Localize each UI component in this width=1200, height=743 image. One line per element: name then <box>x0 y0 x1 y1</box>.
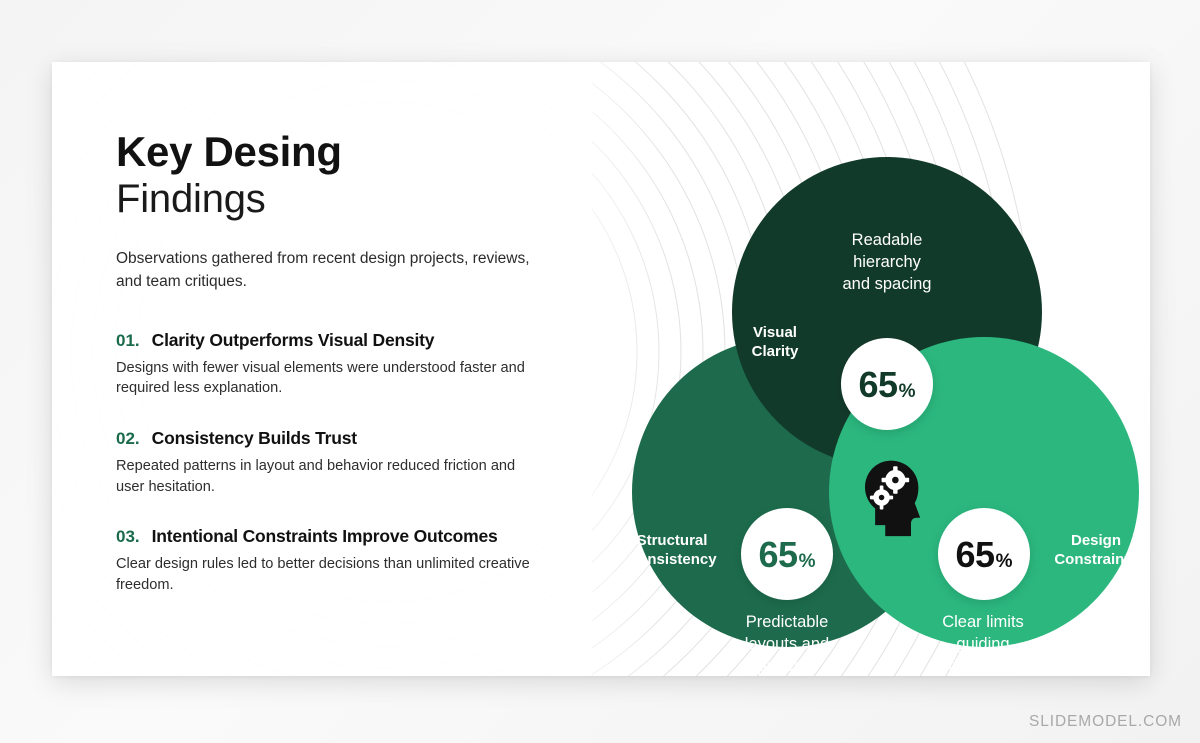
findings-list: 01. Clarity Outperforms Visual Density D… <box>116 330 586 596</box>
slide-page: Key Desing Findings Observations gathere… <box>0 0 1200 743</box>
content-column: Key Desing Findings Observations gathere… <box>116 130 586 596</box>
finding-number: 01. <box>116 331 140 351</box>
finding-title: Intentional Constraints Improve Outcomes <box>152 526 498 547</box>
finding-title: Consistency Builds Trust <box>152 428 357 449</box>
list-item: 03. Intentional Constraints Improve Outc… <box>116 526 586 595</box>
page-title: Key Desing Findings <box>116 130 586 222</box>
title-line-primary: Key Desing <box>116 130 586 175</box>
venn-badge-visual-clarity <box>841 338 933 430</box>
list-item: 01. Clarity Outperforms Visual Density D… <box>116 330 586 399</box>
subtitle-text: Observations gathered from recent design… <box>116 247 546 294</box>
finding-heading: 01. Clarity Outperforms Visual Density <box>116 330 586 351</box>
slide-card: Key Desing Findings Observations gathere… <box>52 62 1150 676</box>
watermark-slidemodel: SLIDEMODEL.COM <box>1029 713 1182 731</box>
list-item: 02. Consistency Builds Trust Repeated pa… <box>116 428 586 497</box>
title-line-secondary: Findings <box>116 177 586 223</box>
finding-number: 03. <box>116 527 140 547</box>
finding-number: 02. <box>116 429 140 449</box>
venn-badge-design-constraints <box>938 508 1030 600</box>
finding-heading: 02. Consistency Builds Trust <box>116 428 586 449</box>
venn-diagram: Readable hierarchy and spacing Visual Cl… <box>552 62 1150 676</box>
finding-description: Repeated patterns in layout and behavior… <box>116 456 536 497</box>
venn-badge-structural-consistency <box>741 508 833 600</box>
finding-heading: 03. Intentional Constraints Improve Outc… <box>116 526 586 547</box>
finding-title: Clarity Outperforms Visual Density <box>152 330 435 351</box>
finding-description: Designs with fewer visual elements were … <box>116 358 536 399</box>
finding-description: Clear design rules led to better decisio… <box>116 554 536 595</box>
